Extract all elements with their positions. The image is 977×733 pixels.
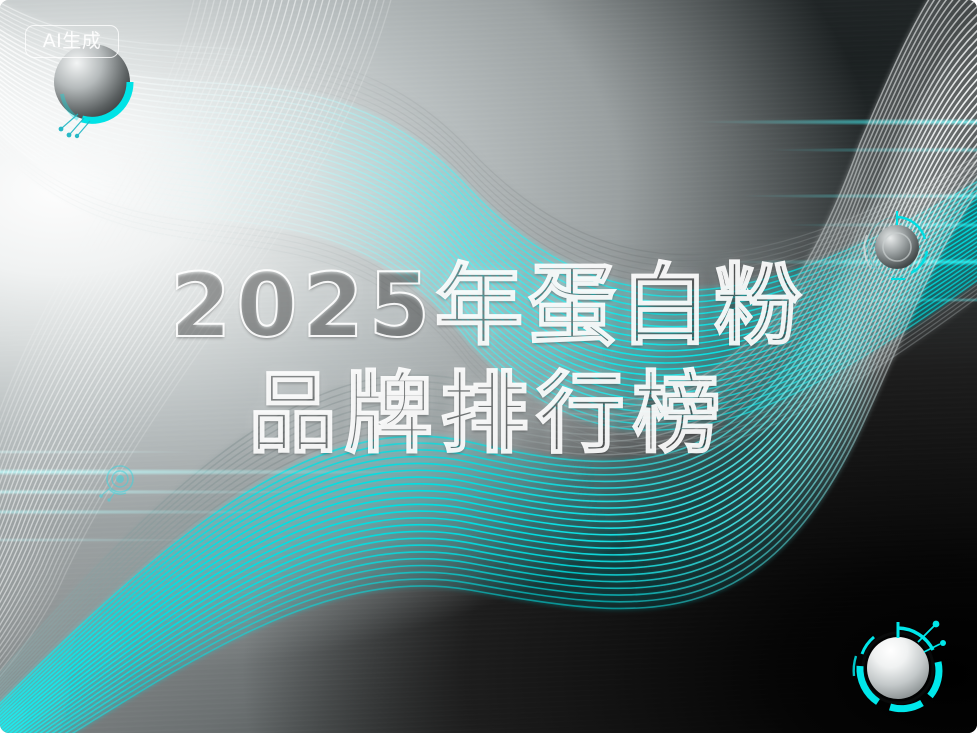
title-line-2: 品牌排行榜: [0, 360, 977, 468]
ai-generated-badge-label: AI生成: [43, 32, 102, 51]
hud-circle-bottom-right-icon: [838, 604, 968, 733]
slide-canvas: 2025年蛋白粉 品牌排行榜: [0, 0, 977, 733]
page-title: 2025年蛋白粉 品牌排行榜: [0, 252, 977, 468]
title-line-1: 2025年蛋白粉: [0, 252, 977, 360]
ai-generated-badge: AI生成: [25, 25, 119, 58]
